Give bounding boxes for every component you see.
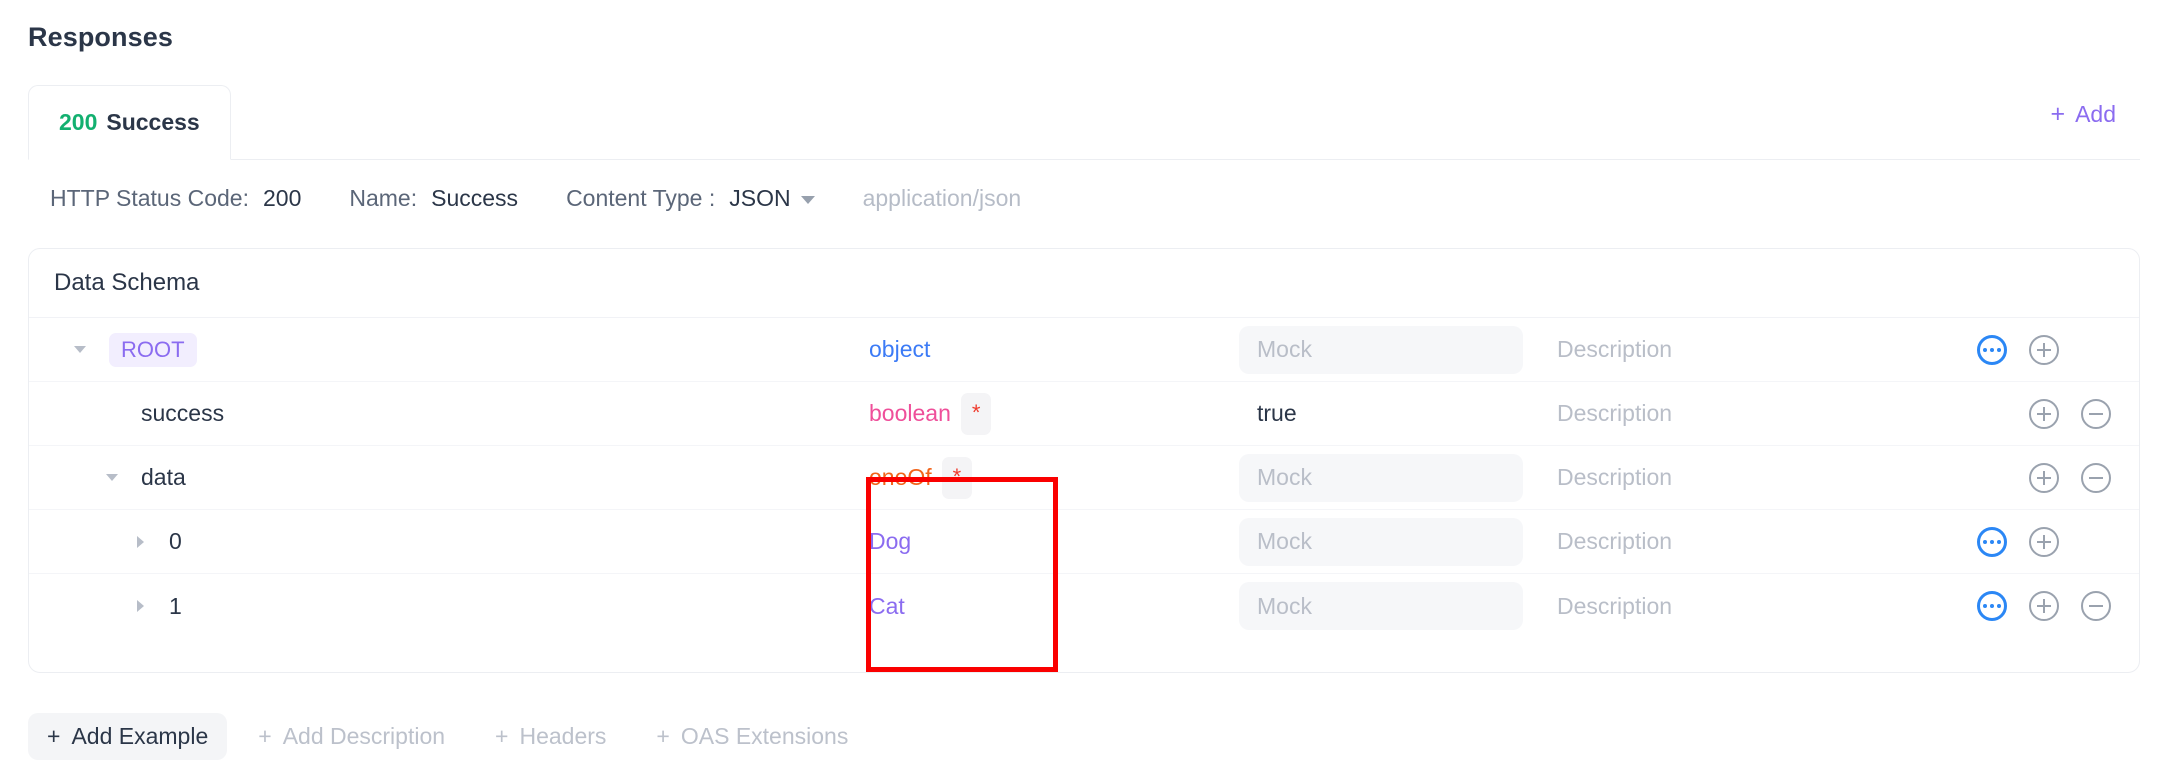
more-options-icon[interactable] xyxy=(1977,591,2007,621)
schema-field-type[interactable]: Cat xyxy=(869,593,905,620)
plus-icon: + xyxy=(656,723,669,750)
remove-field-icon[interactable] xyxy=(2081,591,2111,621)
more-options-icon[interactable] xyxy=(1977,335,2007,365)
add-response-label: Add xyxy=(2075,101,2116,128)
bottom-action-label: OAS Extensions xyxy=(681,723,848,750)
content-type-value: JSON xyxy=(729,185,790,212)
schema-row-type-cell: oneOf* xyxy=(869,457,1239,499)
triangle-down-icon xyxy=(106,474,118,481)
schema-row-mock-cell: Mock xyxy=(1239,582,1539,630)
required-asterisk-icon[interactable]: * xyxy=(961,393,992,435)
more-options-icon[interactable] xyxy=(1977,527,2007,557)
name-value[interactable]: Success xyxy=(431,185,518,212)
twisty-placeholder xyxy=(99,401,125,427)
plus-icon: + xyxy=(258,723,271,750)
bottom-action-add-example[interactable]: +Add Example xyxy=(28,713,227,760)
name-label: Name: xyxy=(349,185,417,212)
expand-triangle-down-icon[interactable] xyxy=(99,465,125,491)
description-input[interactable]: Description xyxy=(1539,400,1909,427)
schema-field-name[interactable]: success xyxy=(141,400,224,427)
remove-field-icon[interactable] xyxy=(2081,399,2111,429)
description-input[interactable]: Description xyxy=(1539,593,1909,620)
action-placeholder xyxy=(1977,399,2007,429)
expand-triangle-down-icon[interactable] xyxy=(67,337,93,363)
schema-row-name-cell: ROOT xyxy=(29,333,869,367)
tab-status-name: Success xyxy=(106,109,199,136)
triangle-right-icon xyxy=(137,536,144,548)
expand-triangle-right-icon[interactable] xyxy=(127,593,153,619)
data-schema-panel: Data Schema ROOTobjectMockDescriptionsuc… xyxy=(28,248,2140,673)
schema-row-mock-cell: Mock xyxy=(1239,518,1539,566)
description-input[interactable]: Description xyxy=(1539,464,1909,491)
http-status-code-value[interactable]: 200 xyxy=(263,185,301,212)
mock-input[interactable]: Mock xyxy=(1239,326,1523,374)
schema-row: successboolean*trueDescription xyxy=(29,382,2139,446)
add-field-icon[interactable] xyxy=(2029,335,2059,365)
bottom-action-add-description[interactable]: +Add Description xyxy=(239,713,464,760)
content-type-hint: application/json xyxy=(863,185,1022,212)
page-title: Responses xyxy=(28,22,173,53)
schema-field-name[interactable]: ROOT xyxy=(109,333,197,367)
add-field-icon[interactable] xyxy=(2029,527,2059,557)
data-schema-title: Data Schema xyxy=(29,249,2139,318)
schema-row: ROOTobjectMockDescription xyxy=(29,318,2139,382)
schema-row-name-cell: data xyxy=(29,464,869,491)
mock-input[interactable]: Mock xyxy=(1239,582,1523,630)
schema-field-type[interactable]: Dog xyxy=(869,528,911,555)
expand-triangle-right-icon[interactable] xyxy=(127,529,153,555)
bottom-action-label: Add Example xyxy=(71,723,208,750)
add-field-icon[interactable] xyxy=(2029,591,2059,621)
schema-row-name-cell: success xyxy=(29,400,869,427)
action-placeholder xyxy=(2081,335,2111,365)
schema-row: 0DogMockDescription xyxy=(29,510,2139,574)
bottom-action-oas-extensions[interactable]: +OAS Extensions xyxy=(637,713,867,760)
content-type-select[interactable]: JSON xyxy=(729,185,814,212)
schema-field-name[interactable]: 0 xyxy=(169,528,182,555)
schema-row-actions xyxy=(1909,335,2139,365)
plus-icon: + xyxy=(47,723,60,750)
schema-row-actions xyxy=(1909,527,2139,557)
triangle-down-icon xyxy=(74,346,86,353)
mock-input[interactable]: Mock xyxy=(1239,518,1523,566)
response-bottom-toolbar: +Add Example+Add Description+Headers+OAS… xyxy=(28,713,867,760)
responses-panel: Responses 200 Success + Add HTTP Status … xyxy=(0,0,2168,780)
add-response-button[interactable]: + Add xyxy=(2050,101,2116,128)
description-input[interactable]: Description xyxy=(1539,336,1909,363)
bottom-action-label: Add Description xyxy=(283,723,445,750)
schema-row-mock-cell: Mock xyxy=(1239,326,1539,374)
schema-row-mock-cell: Mock xyxy=(1239,454,1539,502)
schema-row-actions xyxy=(1909,463,2139,493)
response-tabstrip: 200 Success + Add xyxy=(28,85,2140,160)
schema-row-actions xyxy=(1909,399,2139,429)
action-placeholder xyxy=(1977,463,2007,493)
schema-row-type-cell: boolean* xyxy=(869,393,1239,435)
mock-input[interactable]: Mock xyxy=(1239,454,1523,502)
add-field-icon[interactable] xyxy=(2029,463,2059,493)
content-type-label: Content Type : xyxy=(566,185,715,212)
schema-row-type-cell: Dog xyxy=(869,528,1239,555)
schema-row-actions xyxy=(1909,591,2139,621)
bottom-action-label: Headers xyxy=(519,723,606,750)
schema-row-type-cell: Cat xyxy=(869,593,1239,620)
schema-field-name[interactable]: 1 xyxy=(169,593,182,620)
schema-row-name-cell: 0 xyxy=(29,528,869,555)
schema-field-name[interactable]: data xyxy=(141,464,186,491)
mock-value[interactable]: true xyxy=(1239,400,1297,427)
chevron-down-icon xyxy=(801,196,815,204)
schema-row-type-cell: object xyxy=(869,336,1239,363)
schema-row: dataoneOf*MockDescription xyxy=(29,446,2139,510)
action-placeholder xyxy=(2081,527,2111,557)
schema-field-type[interactable]: object xyxy=(869,336,930,363)
response-meta-row: HTTP Status Code: 200 Name: Success Cont… xyxy=(50,185,1021,212)
http-status-code-label: HTTP Status Code: xyxy=(50,185,249,212)
schema-row-list: ROOTobjectMockDescriptionsuccessboolean*… xyxy=(29,318,2139,638)
tabstrip-divider xyxy=(28,159,2140,160)
plus-icon: + xyxy=(2050,102,2065,127)
schema-field-type[interactable]: boolean xyxy=(869,400,951,427)
remove-field-icon[interactable] xyxy=(2081,463,2111,493)
schema-row-mock-cell: true xyxy=(1239,400,1539,427)
schema-row-name-cell: 1 xyxy=(29,593,869,620)
schema-row: 1CatMockDescription xyxy=(29,574,2139,638)
tab-status-code: 200 xyxy=(59,109,97,136)
triangle-right-icon xyxy=(137,600,144,612)
required-asterisk-icon[interactable]: * xyxy=(942,457,973,499)
plus-icon: + xyxy=(495,723,508,750)
add-field-icon[interactable] xyxy=(2029,399,2059,429)
description-input[interactable]: Description xyxy=(1539,528,1909,555)
schema-field-type[interactable]: oneOf xyxy=(869,464,932,491)
bottom-action-headers[interactable]: +Headers xyxy=(476,713,625,760)
tab-200-success[interactable]: 200 Success xyxy=(28,85,231,160)
